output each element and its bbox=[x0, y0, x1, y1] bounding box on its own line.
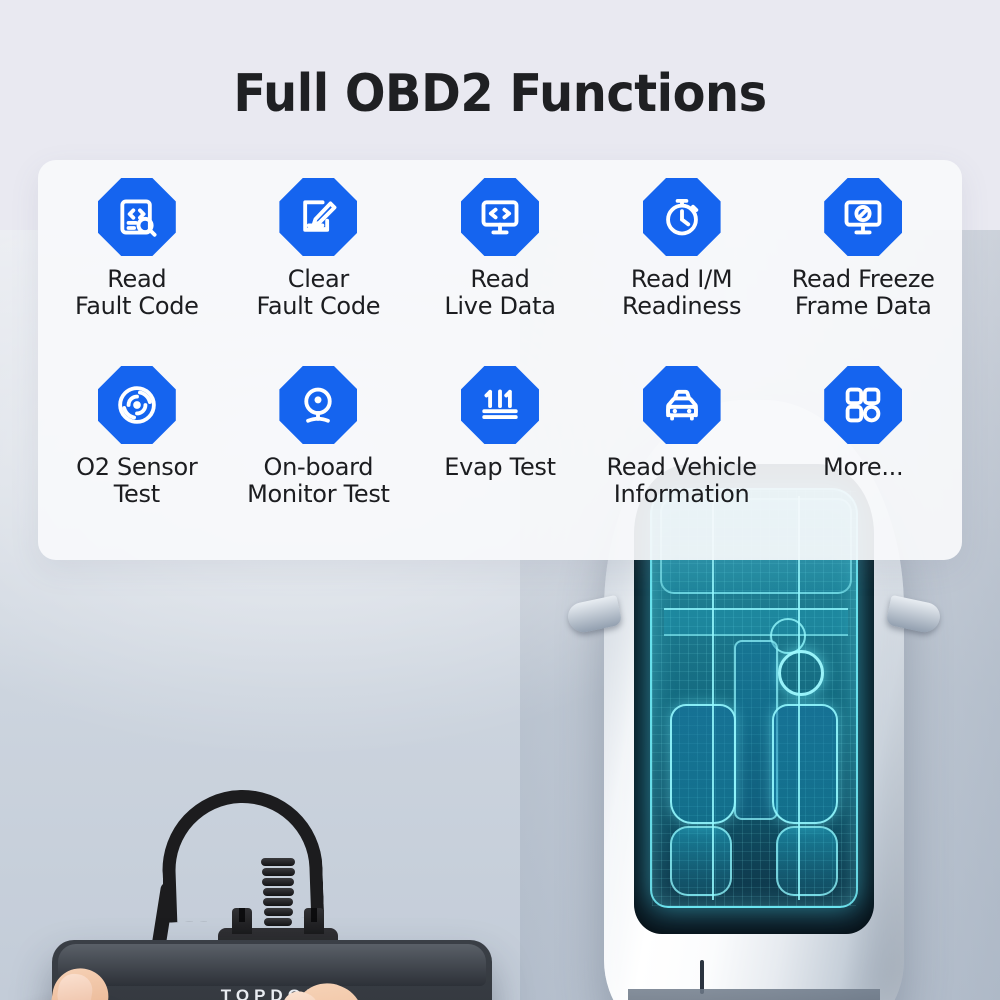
function-item-label-line2: Information bbox=[614, 480, 750, 508]
product-infographic: TOPDON Battery Voltage bbox=[0, 0, 1000, 1000]
function-item-3[interactable]: ReadLive Data bbox=[409, 174, 591, 362]
function-item-label-line2: Frame Data bbox=[795, 292, 932, 320]
functions-card: ReadFault Code ClearFault Code ReadLive … bbox=[38, 160, 962, 560]
function-item-label-line2: Monitor Test bbox=[247, 480, 390, 508]
connector-prong-right bbox=[304, 908, 324, 934]
oxygen-sensor-radar-icon bbox=[115, 383, 159, 427]
function-item-label: Read FreezeFrame Data bbox=[792, 266, 935, 321]
page-title: Full OBD2 Functions bbox=[40, 64, 960, 124]
scanner-device-group: TOPDON Battery Voltage bbox=[52, 820, 522, 1000]
function-item-label: More... bbox=[823, 454, 903, 481]
grid-more-icon bbox=[841, 383, 885, 427]
function-item-7[interactable]: On-boardMonitor Test bbox=[228, 362, 410, 550]
function-item-6[interactable]: O2 SensorTest bbox=[46, 362, 228, 550]
function-icon-badge bbox=[643, 178, 721, 256]
function-item-label-line2: Test bbox=[114, 480, 160, 508]
function-icon-badge bbox=[824, 178, 902, 256]
function-item-label: ClearFault Code bbox=[257, 266, 381, 321]
xray-seat-left bbox=[670, 704, 736, 824]
document-code-search-icon bbox=[115, 195, 159, 239]
function-icon-badge bbox=[643, 366, 721, 444]
function-item-label: O2 SensorTest bbox=[76, 454, 197, 509]
xray-steering-wheel bbox=[778, 650, 824, 696]
function-item-label: Evap Test bbox=[444, 454, 556, 481]
camera-monitor-icon bbox=[296, 383, 340, 427]
monitor-prohibited-icon bbox=[841, 195, 885, 239]
function-item-label-line2: Readiness bbox=[622, 292, 741, 320]
function-item-10[interactable]: More... bbox=[772, 362, 954, 550]
function-icon-badge bbox=[279, 366, 357, 444]
function-icon-badge bbox=[461, 366, 539, 444]
function-item-4[interactable]: Read I/MReadiness bbox=[591, 174, 773, 362]
xray-seat-base-left bbox=[670, 826, 732, 896]
function-icon-badge bbox=[98, 366, 176, 444]
evaporation-arrows-icon bbox=[478, 383, 522, 427]
xray-dashboard bbox=[664, 608, 848, 636]
document-pencil-erase-icon bbox=[296, 195, 340, 239]
monitor-code-icon bbox=[478, 195, 522, 239]
functions-grid: ReadFault Code ClearFault Code ReadLive … bbox=[38, 160, 962, 560]
xray-seat-base-right bbox=[776, 826, 838, 896]
function-item-label-line2: Live Data bbox=[444, 292, 555, 320]
xray-seat-right bbox=[772, 704, 838, 824]
function-item-label: Read I/MReadiness bbox=[622, 266, 741, 321]
function-icon-badge bbox=[98, 178, 176, 256]
cable-strain-relief bbox=[260, 858, 296, 936]
function-item-1[interactable]: ReadFault Code bbox=[46, 174, 228, 362]
function-item-label: ReadLive Data bbox=[444, 266, 555, 321]
car-front-bumper bbox=[628, 989, 880, 1000]
function-item-label-line2: Fault Code bbox=[257, 292, 381, 320]
function-item-8[interactable]: Evap Test bbox=[409, 362, 591, 550]
function-item-label: ReadFault Code bbox=[75, 266, 199, 321]
right-hand bbox=[238, 986, 528, 1000]
function-icon-badge bbox=[824, 366, 902, 444]
function-item-2[interactable]: ClearFault Code bbox=[228, 174, 410, 362]
function-item-5[interactable]: Read FreezeFrame Data bbox=[772, 174, 954, 362]
function-item-label: Read VehicleInformation bbox=[607, 454, 757, 509]
function-icon-badge bbox=[279, 178, 357, 256]
function-icon-badge bbox=[461, 178, 539, 256]
connector-prong-left bbox=[232, 908, 252, 934]
function-item-9[interactable]: Read VehicleInformation bbox=[591, 362, 773, 550]
function-item-label-line2: Fault Code bbox=[75, 292, 199, 320]
left-hand bbox=[0, 968, 150, 1000]
stopwatch-icon bbox=[660, 195, 704, 239]
function-item-label: On-boardMonitor Test bbox=[247, 454, 390, 509]
car-front-icon bbox=[660, 383, 704, 427]
